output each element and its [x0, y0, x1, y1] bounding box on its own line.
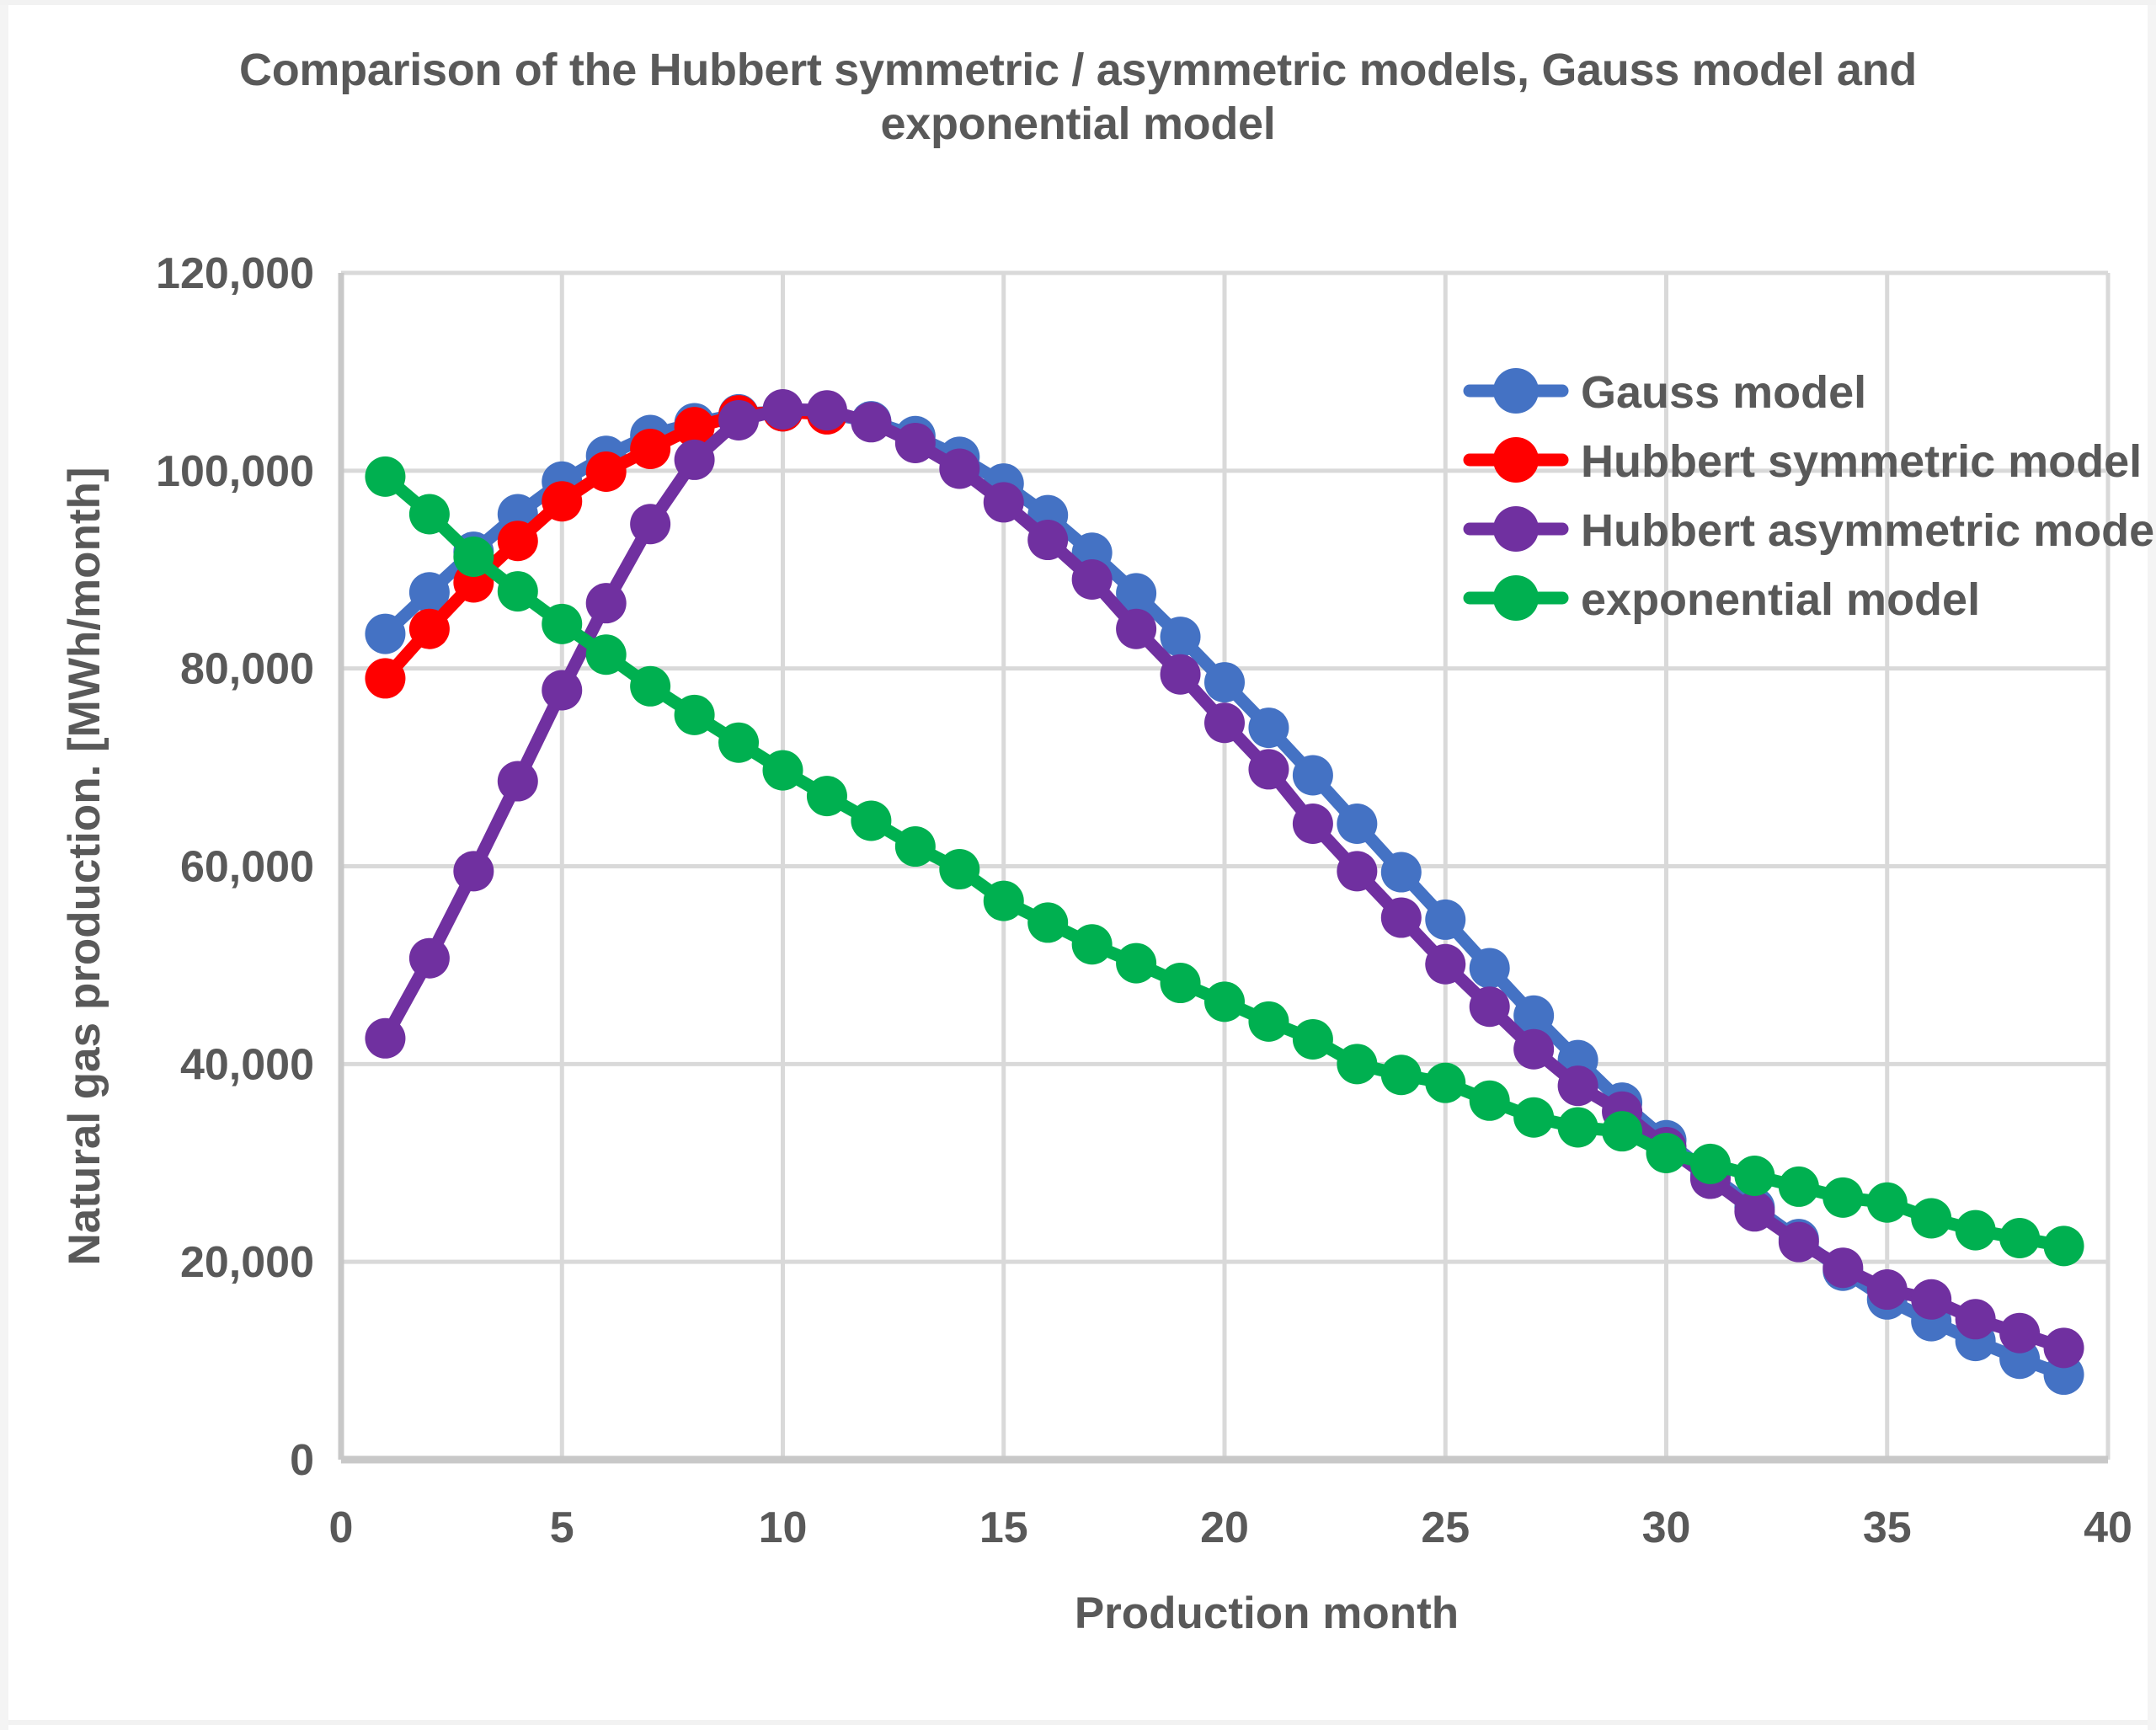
legend-label-1: Hubbert symmetric model [1581, 436, 2142, 487]
y-tick-label: 100,000 [156, 447, 314, 496]
x-tick-label: 0 [329, 1503, 354, 1552]
legend-marker-3 [1493, 575, 1539, 621]
data-point-marker [1734, 1156, 1774, 1196]
data-point-marker [1470, 986, 1510, 1027]
data-point-marker [939, 448, 979, 489]
data-point-marker [1470, 1081, 1510, 1121]
data-point-marker [763, 750, 803, 791]
data-point-marker [1956, 1210, 1996, 1251]
data-point-marker [1779, 1167, 1819, 1207]
y-tick-label: 0 [290, 1436, 314, 1485]
data-point-marker [1293, 755, 1333, 795]
x-axis-title: Production month [1075, 1589, 1459, 1638]
legend-label-3: exponential model [1581, 574, 1980, 625]
data-point-marker [1822, 1247, 1863, 1288]
data-point-marker [630, 666, 670, 707]
data-point-marker [1248, 707, 1289, 748]
data-point-marker [807, 390, 847, 430]
data-point-marker [1381, 852, 1422, 893]
data-point-marker [851, 800, 891, 841]
data-point-marker [1161, 654, 1201, 695]
data-point-marker [851, 402, 891, 442]
data-point-marker [1337, 1044, 1377, 1084]
data-point-marker [1999, 1313, 2040, 1354]
data-point-marker [630, 504, 670, 544]
data-point-marker [1293, 804, 1333, 844]
y-axis-tick-labels: 020,00040,00060,00080,000100,000120,000 [156, 249, 314, 1485]
data-point-marker [1204, 662, 1245, 702]
data-point-marker [1204, 981, 1245, 1022]
legend-label-2: Hubbert asymmetric model [1581, 505, 2156, 556]
data-point-marker [498, 761, 538, 802]
data-point-marker [1558, 1065, 1598, 1106]
y-tick-label: 80,000 [180, 645, 314, 694]
data-point-marker [498, 571, 538, 611]
data-point-marker [1027, 520, 1068, 560]
data-point-marker [1911, 1199, 1951, 1239]
data-point-marker [1867, 1183, 1908, 1223]
y-tick-label: 20,000 [180, 1238, 314, 1287]
data-point-marker [2044, 1225, 2084, 1266]
data-point-marker [718, 400, 759, 441]
data-point-marker [1204, 702, 1245, 743]
data-point-marker [1690, 1144, 1731, 1184]
data-point-marker [1602, 1111, 1642, 1151]
data-point-marker [1027, 902, 1068, 942]
data-point-marker [409, 494, 450, 535]
data-point-marker [2044, 1327, 2084, 1368]
data-point-marker [1072, 559, 1113, 600]
data-point-marker [586, 583, 627, 623]
data-point-marker [1425, 944, 1465, 985]
chart-container: Comparison of the Hubbert symmetric / as… [0, 0, 2156, 1725]
data-point-marker [586, 634, 627, 675]
data-point-marker [453, 537, 494, 577]
chart-plot: 020,00040,00060,00080,000100,000120,0000… [0, 5, 2156, 1730]
data-point-marker [1867, 1269, 1908, 1310]
data-point-marker [1293, 1019, 1333, 1060]
data-point-marker [939, 849, 979, 889]
y-tick-label: 40,000 [180, 1040, 314, 1089]
data-point-marker [630, 429, 670, 469]
data-point-marker [498, 521, 538, 561]
x-tick-label: 35 [1863, 1503, 1912, 1552]
data-point-marker [1425, 1063, 1465, 1103]
data-point-marker [1646, 1133, 1687, 1173]
data-point-marker [1337, 851, 1377, 891]
data-point-marker [542, 481, 582, 521]
data-point-marker [1999, 1218, 2040, 1258]
data-point-marker [984, 881, 1024, 921]
legend-marker-0 [1493, 368, 1539, 414]
data-point-marker [1779, 1222, 1819, 1263]
data-point-marker [1248, 1001, 1289, 1042]
data-point-marker [1337, 804, 1377, 844]
x-axis-tick-labels: 0510152025303540 [329, 1503, 2132, 1552]
data-point-marker [1470, 948, 1510, 988]
data-point-marker [1425, 900, 1465, 940]
x-tick-label: 40 [2084, 1503, 2132, 1552]
y-tick-label: 120,000 [156, 249, 314, 298]
x-tick-label: 15 [979, 1503, 1028, 1552]
data-point-marker [409, 609, 450, 649]
x-tick-label: 20 [1200, 1503, 1249, 1552]
data-point-marker [1381, 1055, 1422, 1095]
data-point-marker [895, 423, 936, 463]
x-tick-label: 30 [1642, 1503, 1691, 1552]
y-axis-title: Natural gas production. [MWh/month] [60, 467, 109, 1265]
data-point-marker [1956, 1299, 1996, 1339]
y-tick-label: 60,000 [180, 843, 314, 892]
data-point-marker [1513, 1029, 1554, 1070]
data-point-marker [1072, 924, 1113, 964]
data-point-marker [1248, 749, 1289, 789]
data-point-marker [895, 826, 936, 867]
legend-marker-1 [1493, 437, 1539, 483]
data-point-marker [365, 614, 405, 654]
legend-label-0: Gauss model [1581, 367, 1866, 418]
data-point-marker [1911, 1279, 1951, 1320]
data-point-marker [675, 695, 715, 735]
legend-marker-2 [1493, 506, 1539, 552]
data-point-marker [1822, 1177, 1863, 1218]
data-point-marker [1513, 1097, 1554, 1138]
data-point-marker [718, 723, 759, 763]
data-point-marker [542, 670, 582, 711]
x-tick-label: 25 [1421, 1503, 1470, 1552]
x-tick-label: 10 [759, 1503, 808, 1552]
data-point-marker [1734, 1191, 1774, 1231]
data-point-marker [365, 658, 405, 698]
x-tick-label: 5 [550, 1503, 574, 1552]
data-point-marker [365, 1018, 405, 1059]
data-point-marker [542, 604, 582, 644]
data-point-marker [409, 938, 450, 979]
data-point-marker [453, 851, 494, 891]
data-point-marker [1558, 1107, 1598, 1147]
chart-legend: Gauss modelHubbert symmetric modelHubber… [1470, 367, 2156, 625]
data-point-marker [675, 440, 715, 480]
data-point-marker [1116, 609, 1156, 649]
data-point-marker [1116, 943, 1156, 984]
data-point-marker [1381, 898, 1422, 938]
data-point-marker [365, 457, 405, 497]
data-point-marker [807, 776, 847, 816]
data-point-marker [984, 482, 1024, 522]
data-point-marker [586, 451, 627, 492]
data-point-marker [1161, 963, 1201, 1003]
data-point-marker [763, 389, 803, 430]
